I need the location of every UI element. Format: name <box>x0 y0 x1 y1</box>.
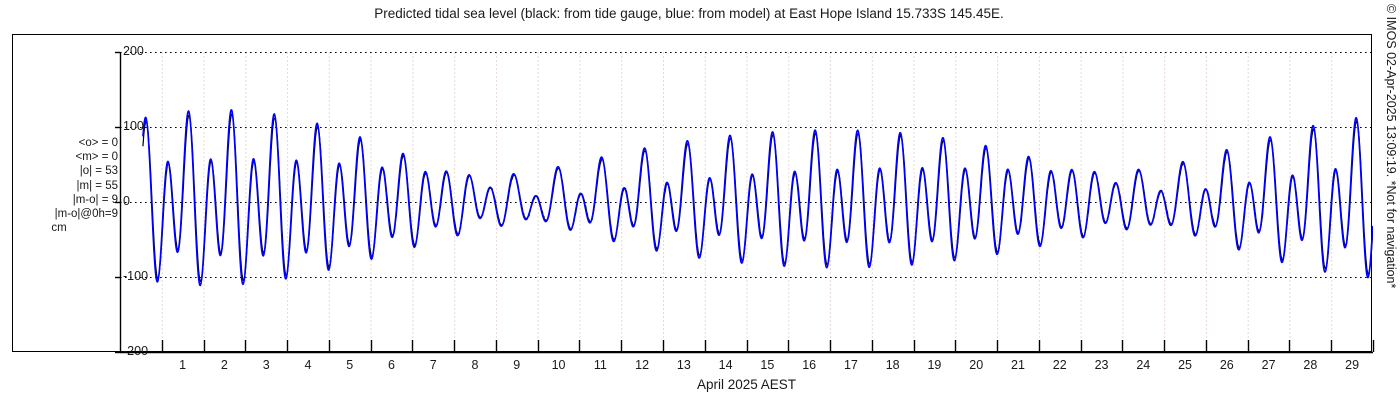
x-tick-label: 19 <box>914 358 954 372</box>
x-tick-label: 22 <box>1040 358 1080 372</box>
copyright-notice: © IMOS 02-Apr-2025 13:09:19. *Not for na… <box>1374 0 1398 400</box>
x-tick-label: 6 <box>371 358 411 372</box>
x-axis-title: April 2025 AEST <box>120 377 1373 392</box>
stat-abs-diff-0h: |m-o|@0h=9 <box>18 207 118 221</box>
x-tick-label: 3 <box>246 358 286 372</box>
stat-mean-model: <m> = 0 <box>18 150 118 164</box>
x-tick-label: 24 <box>1123 358 1163 372</box>
statistics-block: <o> = 0 <m> = 0 |o| = 53 |m| = 55 |m-o| … <box>18 136 118 235</box>
x-tick-label: 21 <box>998 358 1038 372</box>
x-tick-label: 14 <box>706 358 746 372</box>
x-tick-label: 28 <box>1290 358 1330 372</box>
page-title: Predicted tidal sea level (black: from t… <box>0 6 1378 21</box>
x-tick-label: 23 <box>1082 358 1122 372</box>
x-tick-label: 25 <box>1165 358 1205 372</box>
x-tick-label: 9 <box>497 358 537 372</box>
x-tick-label: 2 <box>204 358 244 372</box>
x-tick-label: 20 <box>956 358 996 372</box>
stat-units: cm <box>18 221 118 235</box>
x-tick-label: 10 <box>539 358 579 372</box>
x-tick-label: 11 <box>580 358 620 372</box>
x-tick-label: 27 <box>1249 358 1289 372</box>
tidal-chart-page: Predicted tidal sea level (black: from t… <box>0 0 1400 400</box>
x-tick-label: 18 <box>873 358 913 372</box>
x-tick-label: 17 <box>831 358 871 372</box>
y-tick-label: 200 <box>123 44 144 58</box>
x-tick-label: 29 <box>1332 358 1372 372</box>
stat-mean-obs: <o> = 0 <box>18 136 118 150</box>
tidal-series-plot <box>120 52 1373 352</box>
x-tick-label: 16 <box>789 358 829 372</box>
stat-abs-diff: |m-o| = 9 <box>18 193 118 207</box>
y-tick-label: 100 <box>123 119 144 133</box>
x-tick-label: 12 <box>622 358 662 372</box>
y-tick-label: -100 <box>123 269 148 283</box>
x-tick-label: 15 <box>747 358 787 372</box>
x-tick-label: 13 <box>664 358 704 372</box>
stat-abs-model: |m| = 55 <box>18 179 118 193</box>
stat-abs-obs: |o| = 53 <box>18 164 118 178</box>
plot-area <box>120 52 1373 352</box>
x-tick-label: 7 <box>413 358 453 372</box>
x-tick-label: 5 <box>330 358 370 372</box>
y-tick-label: 0 <box>123 194 130 208</box>
x-tick-label: 1 <box>163 358 203 372</box>
x-tick-label: 4 <box>288 358 328 372</box>
y-tick-label: -200 <box>123 344 148 358</box>
x-tick-label: 26 <box>1207 358 1247 372</box>
x-tick-label: 8 <box>455 358 495 372</box>
